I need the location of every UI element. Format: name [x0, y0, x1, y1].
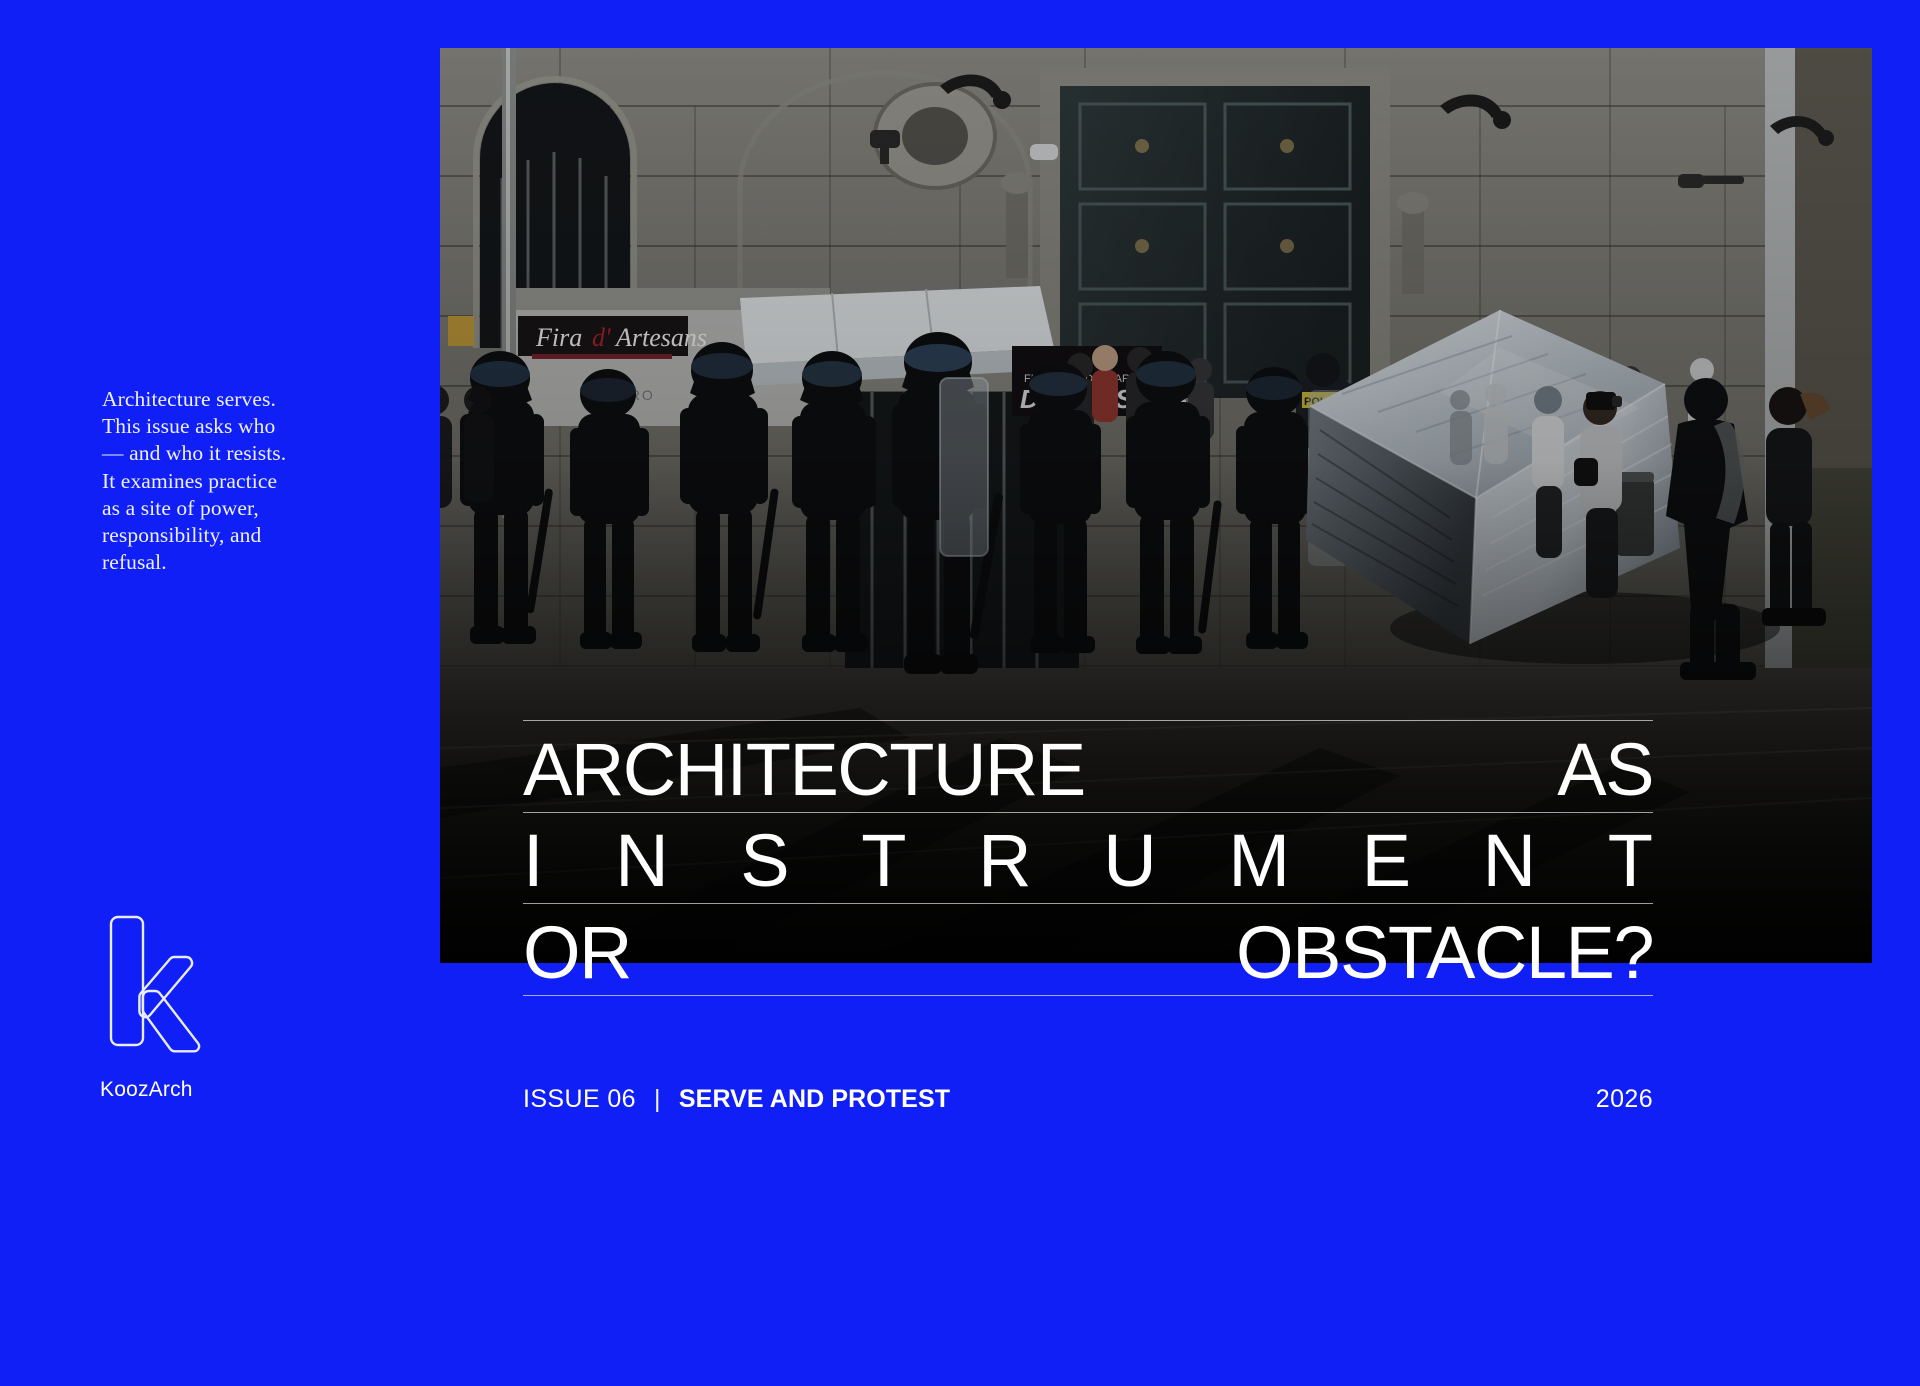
cover-photo: Fira d' Artesans IZARO FIRA DE NADAL I A…: [440, 48, 1872, 963]
cover-photo-illustration: Fira d' Artesans IZARO FIRA DE NADAL I A…: [440, 48, 1872, 963]
headline-rule-bottom: [523, 995, 1653, 996]
brand-name: KoozArch: [100, 1078, 340, 1102]
brand-block[interactable]: KoozArch: [100, 905, 340, 1102]
issue-intro-text: Architecture serves. This issue asks who…: [102, 386, 330, 576]
lowercase-k-outline-logo: [100, 905, 210, 1060]
caption-separator: |: [636, 1085, 679, 1114]
issue-number: ISSUE 06: [523, 1085, 636, 1114]
cover-page: Architecture serves. This issue asks who…: [0, 0, 1920, 1386]
issue-title: SERVE AND PROTEST: [679, 1085, 950, 1114]
caption-left-group: ISSUE 06 | SERVE AND PROTEST: [523, 1085, 950, 1114]
issue-caption-bar: ISSUE 06 | SERVE AND PROTEST 2026: [523, 1085, 1653, 1114]
issue-year: 2026: [1596, 1085, 1653, 1114]
intro-column: Architecture serves. This issue asks who…: [102, 386, 330, 576]
